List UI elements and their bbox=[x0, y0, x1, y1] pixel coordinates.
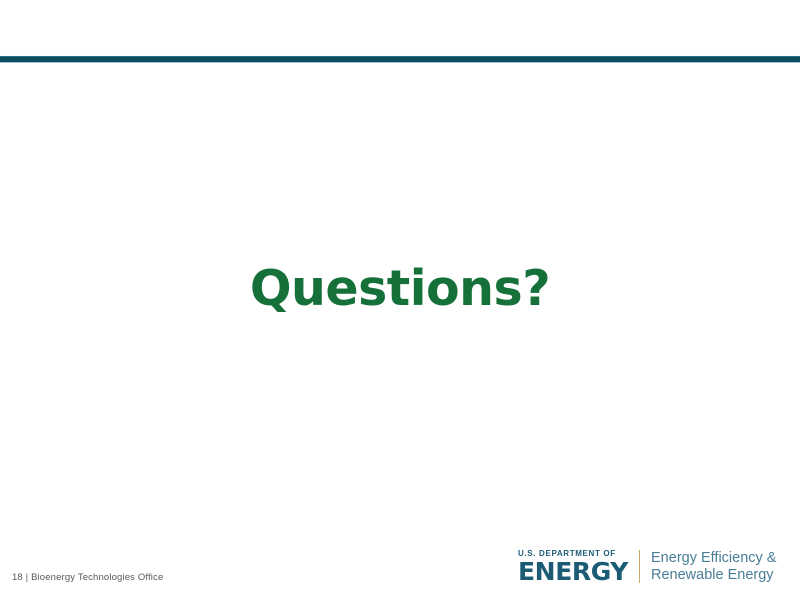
eere-program-line-2: Renewable Energy bbox=[651, 567, 776, 584]
doe-wordmark-group: U.S. DEPARTMENT OF ENERGY bbox=[518, 549, 628, 585]
header-rule-halo bbox=[0, 48, 800, 56]
doe-energy-wordmark: ENERGY bbox=[518, 559, 628, 585]
header-divider-rule bbox=[0, 56, 800, 63]
eere-program-group: Energy Efficiency & Renewable Energy bbox=[651, 549, 776, 585]
footer-page-label: 18 | Bioenergy Technologies Office bbox=[12, 572, 163, 583]
page-title: Questions? bbox=[250, 264, 550, 313]
presentation-slide: Questions? 18 | Bioenergy Technologies O… bbox=[0, 0, 800, 600]
logo-divider-line bbox=[639, 550, 640, 583]
doe-eere-logo: U.S. DEPARTMENT OF ENERGY Energy Efficie… bbox=[518, 549, 770, 585]
slide-title-area: Questions? bbox=[0, 248, 800, 328]
eere-program-line-1: Energy Efficiency & bbox=[651, 550, 776, 567]
